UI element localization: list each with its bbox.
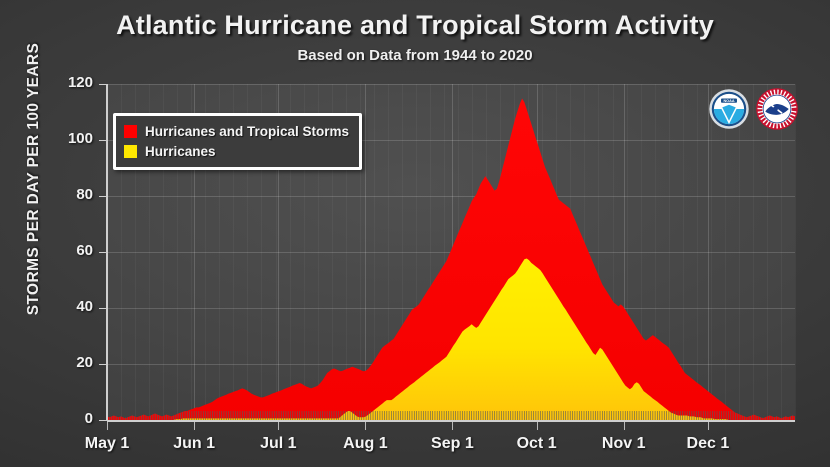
x-axis-line: [107, 420, 795, 422]
daily-bar-ticks: [107, 411, 795, 420]
page-title: Atlantic Hurricane and Tropical Storm Ac…: [0, 10, 830, 41]
national-weather-service-logo: [756, 88, 798, 130]
yellow-square-icon: [124, 145, 137, 158]
page-subtitle: Based on Data from 1944 to 2020: [0, 47, 830, 64]
legend-item-tropical-storms[interactable]: Hurricanes and Tropical Storms: [124, 121, 349, 141]
chart-legend[interactable]: Hurricanes and Tropical Storms Hurricane…: [113, 113, 362, 170]
y-axis-tick-label: 20: [29, 354, 93, 371]
y-axis-tick-label: 120: [29, 74, 93, 91]
agency-logos: NOAA: [708, 88, 798, 132]
legend-label-hurricanes: Hurricanes: [145, 144, 216, 159]
noaa-logo: NOAA: [708, 88, 750, 130]
y-axis-tick-label: 80: [29, 186, 93, 203]
svg-text:NOAA: NOAA: [723, 99, 734, 103]
y-axis-tick-label: 100: [29, 130, 93, 147]
y-axis-tick-label: 40: [29, 298, 93, 315]
red-square-icon: [124, 125, 137, 138]
x-axis-tick-label: Dec 1: [648, 435, 768, 453]
y-axis-tick-label: 60: [29, 242, 93, 259]
y-axis-tick-label: 0: [29, 410, 93, 427]
legend-item-hurricanes[interactable]: Hurricanes: [124, 141, 349, 161]
y-axis-line: [106, 84, 108, 421]
legend-label-tropical-storms: Hurricanes and Tropical Storms: [145, 124, 349, 139]
y-axis-title: STORMS PER DAY PER 100 YEARS: [25, 14, 43, 344]
chart-page: Atlantic Hurricane and Tropical Storm Ac…: [0, 0, 830, 467]
